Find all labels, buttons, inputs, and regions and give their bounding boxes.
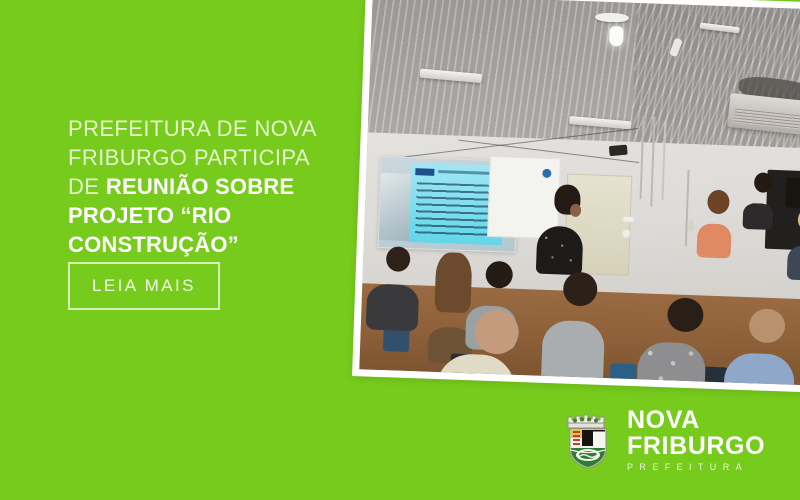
logo[interactable]: NOVA FRIBURGO PREFEITURA	[560, 408, 765, 472]
leia-mais-button[interactable]: Leia mais	[68, 262, 220, 310]
attendee-body	[696, 223, 731, 258]
water-bottle-icon	[688, 219, 693, 231]
page-title: Prefeitura de Nova Friburgo participa de…	[68, 114, 336, 259]
presenter-pattern	[536, 225, 584, 275]
coat-of-arms-icon	[560, 410, 616, 470]
door-handle-icon	[622, 217, 633, 222]
attendee-body	[542, 319, 606, 377]
attendee-body	[365, 283, 419, 331]
logo-line-prefeitura: PREFEITURA	[627, 463, 765, 472]
logo-line-nova: NOVA	[627, 408, 765, 433]
chair	[610, 363, 637, 384]
wall-sign-icon	[542, 169, 551, 178]
attendee-head	[434, 252, 472, 313]
whiteboard	[487, 156, 560, 239]
slide-logo	[416, 168, 435, 176]
banner-root: Prefeitura de Nova Friburgo participa de…	[0, 0, 800, 500]
photo-card	[352, 0, 800, 393]
logo-text: NOVA FRIBURGO PREFEITURA	[627, 408, 765, 472]
attendee-head	[748, 308, 785, 343]
logo-line-friburgo: FRIBURGO	[627, 434, 765, 459]
equipment-rack-panel	[785, 178, 800, 209]
attendee-body	[743, 202, 774, 229]
attendee-head	[562, 271, 597, 306]
wall-device-box	[609, 144, 628, 156]
slide-text-lines	[415, 182, 497, 239]
meeting-photo	[359, 0, 800, 386]
